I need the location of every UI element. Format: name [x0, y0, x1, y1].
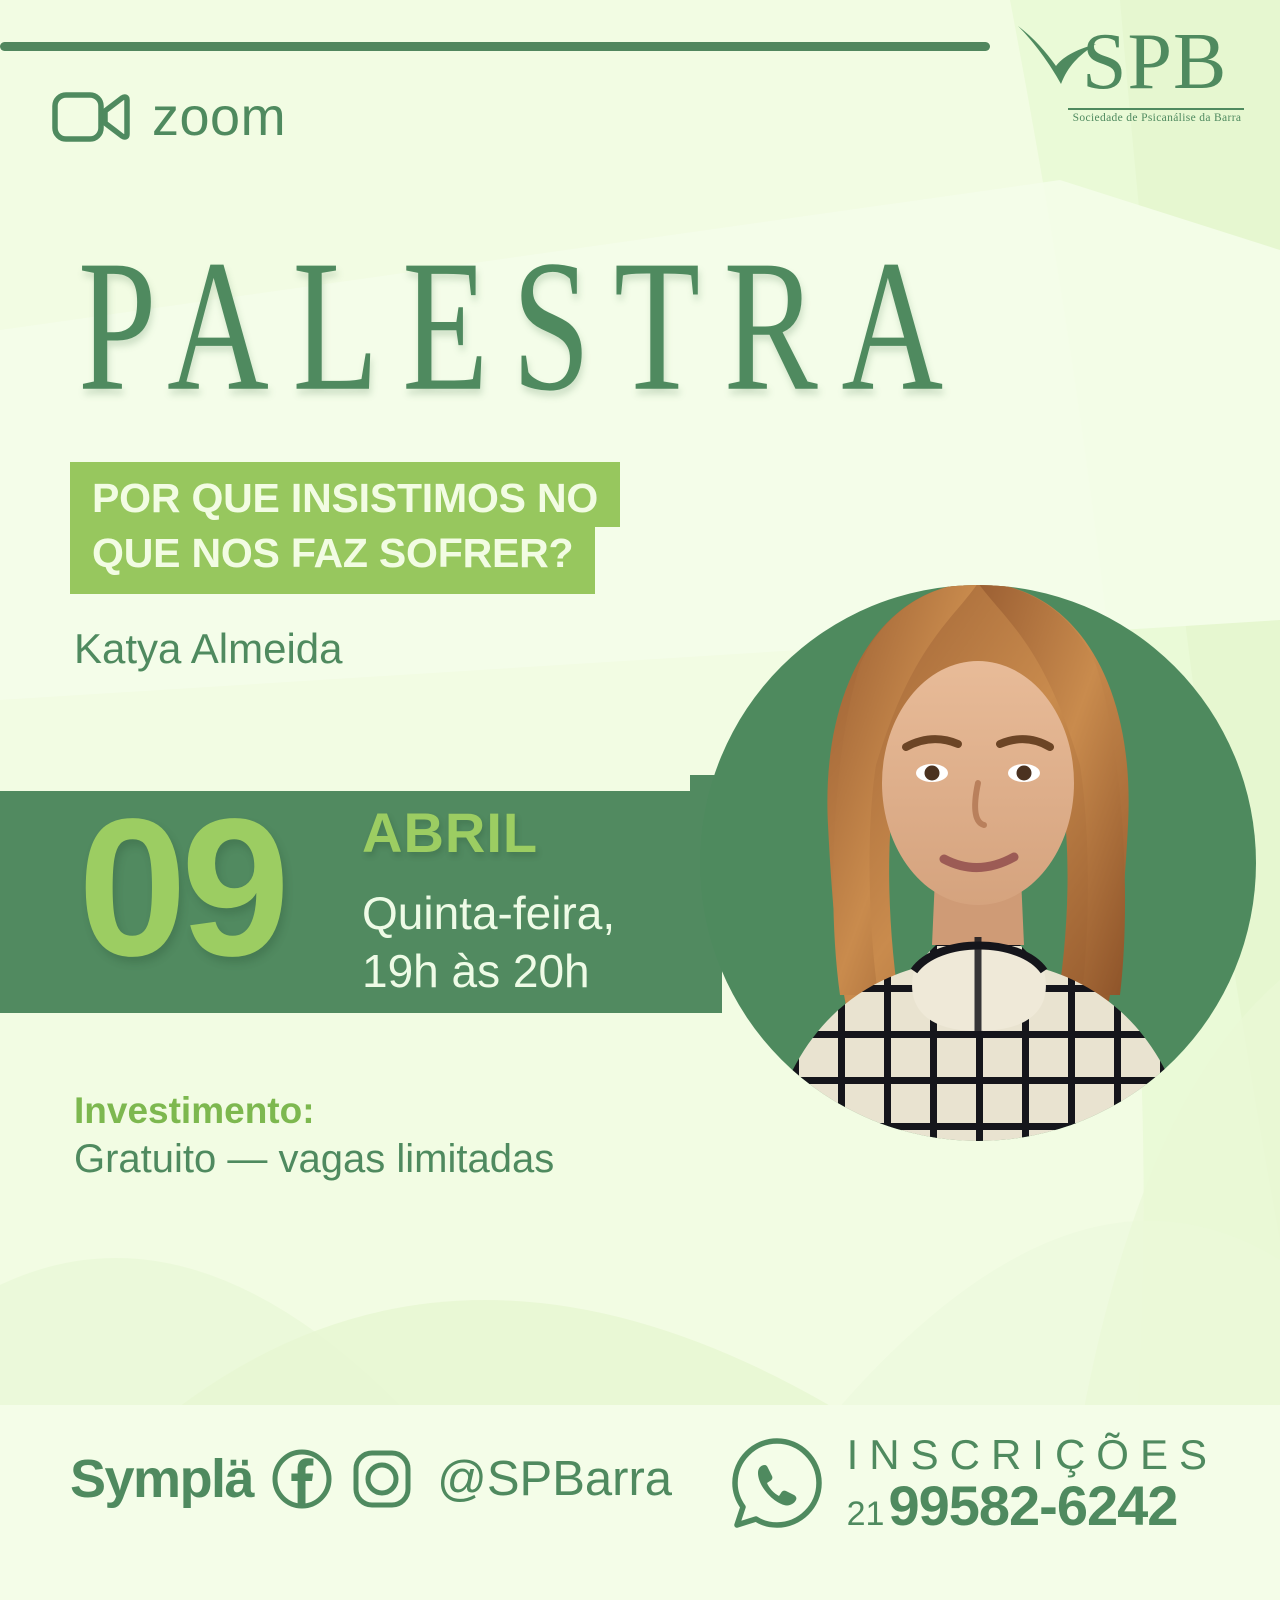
social-handle[interactable]: @SPBarra — [437, 1455, 672, 1504]
subtitle-line-2: QUE NOS FAZ SOFRER? — [70, 527, 595, 594]
spb-tagline: Sociedade de Psicanálise da Barra — [1064, 112, 1250, 124]
subtitle-line-1: POR QUE INSISTIMOS NO — [70, 462, 620, 527]
speaker-name: Katya Almeida — [74, 628, 343, 670]
page-title: PALESTRA — [78, 232, 967, 420]
top-divider — [0, 42, 990, 51]
event-poster: zoom SPB Sociedade de Psicanálise da Bar… — [0, 0, 1280, 1600]
spb-logo-divider — [1068, 108, 1244, 110]
date-weekday-time: Quinta-feira, 19h às 20h — [362, 885, 615, 1000]
sympla-logo[interactable]: Symplä — [70, 1452, 253, 1506]
signup-group: INSCRIÇÕES 21 99582-6242 — [729, 1432, 1218, 1534]
speaker-photo — [700, 585, 1256, 1215]
investment-block: Investimento: Gratuito — vagas limitadas — [74, 1090, 554, 1183]
investment-label: Investimento: — [74, 1090, 554, 1133]
date-month: ABRIL — [362, 805, 538, 861]
instagram-icon[interactable] — [351, 1448, 413, 1510]
portrait-illustration — [700, 525, 1256, 1215]
date-weekday: Quinta-feira, — [362, 885, 615, 943]
subtitle-banner: POR QUE INSISTIMOS NO QUE NOS FAZ SOFRER… — [70, 462, 620, 594]
date-time: 19h às 20h — [362, 943, 615, 1001]
spb-letters: SPB — [1082, 24, 1227, 100]
phone-number: 99582-6242 — [888, 1478, 1177, 1534]
spb-logo: SPB Sociedade de Psicanálise da Barra — [1016, 16, 1246, 136]
facebook-icon[interactable] — [271, 1448, 333, 1510]
phone-row[interactable]: 21 99582-6242 — [847, 1478, 1218, 1534]
signup-text-block: INSCRIÇÕES 21 99582-6242 — [847, 1432, 1218, 1534]
signup-label: INSCRIÇÕES — [847, 1432, 1218, 1478]
phone-area-code: 21 — [847, 1497, 885, 1531]
investment-value: Gratuito — vagas limitadas — [74, 1135, 554, 1183]
video-camera-icon — [52, 91, 130, 143]
whatsapp-icon[interactable] — [729, 1435, 825, 1531]
zoom-platform-mark: zoom — [52, 90, 286, 144]
footer-social-group: Symplä @SPBarra — [70, 1448, 672, 1510]
zoom-label: zoom — [152, 90, 286, 144]
date-day: 09 — [78, 790, 284, 986]
